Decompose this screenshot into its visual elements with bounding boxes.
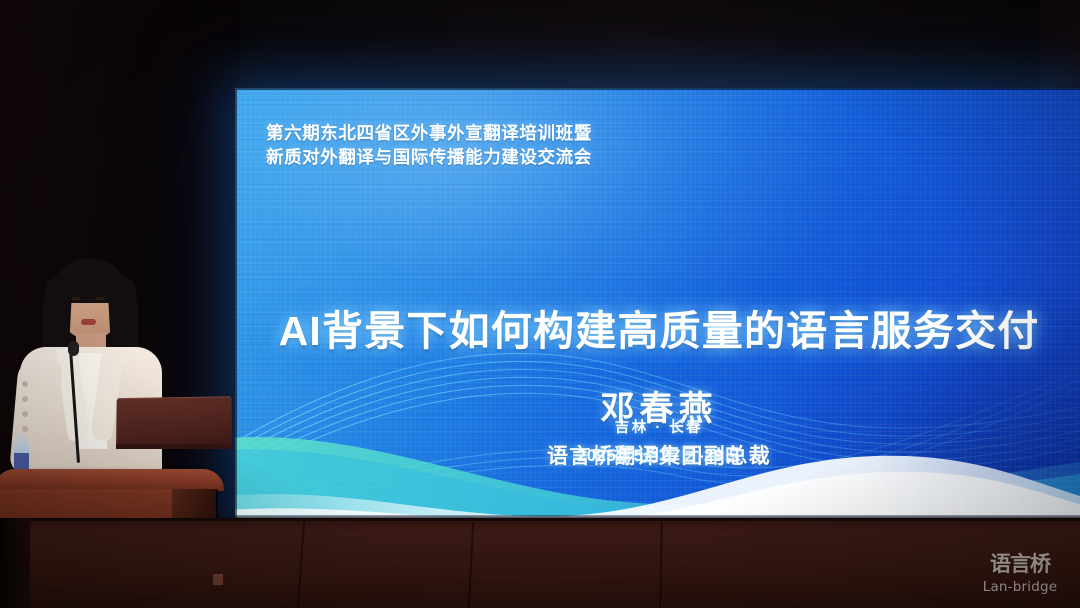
slide-kicker-line2: 新质对外翻译与国际传播能力建设交流会 bbox=[266, 146, 592, 169]
stage-front-panel bbox=[0, 518, 1080, 608]
laptop bbox=[116, 396, 232, 447]
slide-kicker: 第六期东北四省区外事外宣翻译培训班暨 新质对外翻译与国际传播能力建设交流会 bbox=[266, 122, 592, 169]
podium-top bbox=[0, 469, 224, 491]
watermark-text: Lan-bridge bbox=[983, 579, 1058, 595]
watermark-logo: 语言桥 Lan-bridge bbox=[968, 548, 1072, 600]
conference-stage-photo: 第六期东北四省区外事外宣翻译培训班暨 新质对外翻译与国际传播能力建设交流会 AI… bbox=[0, 0, 1080, 608]
slide-date: 2025年5月27日-29日 bbox=[235, 441, 1080, 466]
watermark-mark: 语言桥 bbox=[990, 554, 1050, 575]
stage-panel-seam bbox=[468, 522, 475, 608]
presenter-eye-right bbox=[96, 297, 104, 300]
water-bottle-label bbox=[14, 453, 29, 470]
presentation-screen: 第六期东北四省区外事外宣翻译培训班暨 新质对外翻译与国际传播能力建设交流会 AI… bbox=[235, 88, 1080, 520]
stage-front-left-shadow bbox=[0, 518, 30, 608]
presenter-mouth bbox=[81, 319, 96, 325]
wall-outlet-plate bbox=[213, 574, 223, 585]
microphone-head bbox=[68, 341, 79, 356]
stage-panel-seam bbox=[659, 522, 663, 608]
slide-meta: 吉林 · 长春 2025年5月27日-29日 bbox=[235, 416, 1080, 466]
slide-text-layer: 第六期东北四省区外事外宣翻译培训班暨 新质对外翻译与国际传播能力建设交流会 AI… bbox=[235, 88, 1080, 520]
water-bottle-cap bbox=[17, 435, 26, 443]
stage-panel-seam bbox=[297, 522, 305, 608]
slide-place: 吉林 · 长春 bbox=[235, 416, 1080, 437]
presenter-eye-left bbox=[72, 297, 80, 300]
slide-kicker-line1: 第六期东北四省区外事外宣翻译培训班暨 bbox=[266, 122, 592, 145]
laptop-hinge bbox=[116, 444, 231, 449]
slide-main-title: AI背景下如何构建高质量的语言服务交付 bbox=[235, 297, 1080, 357]
